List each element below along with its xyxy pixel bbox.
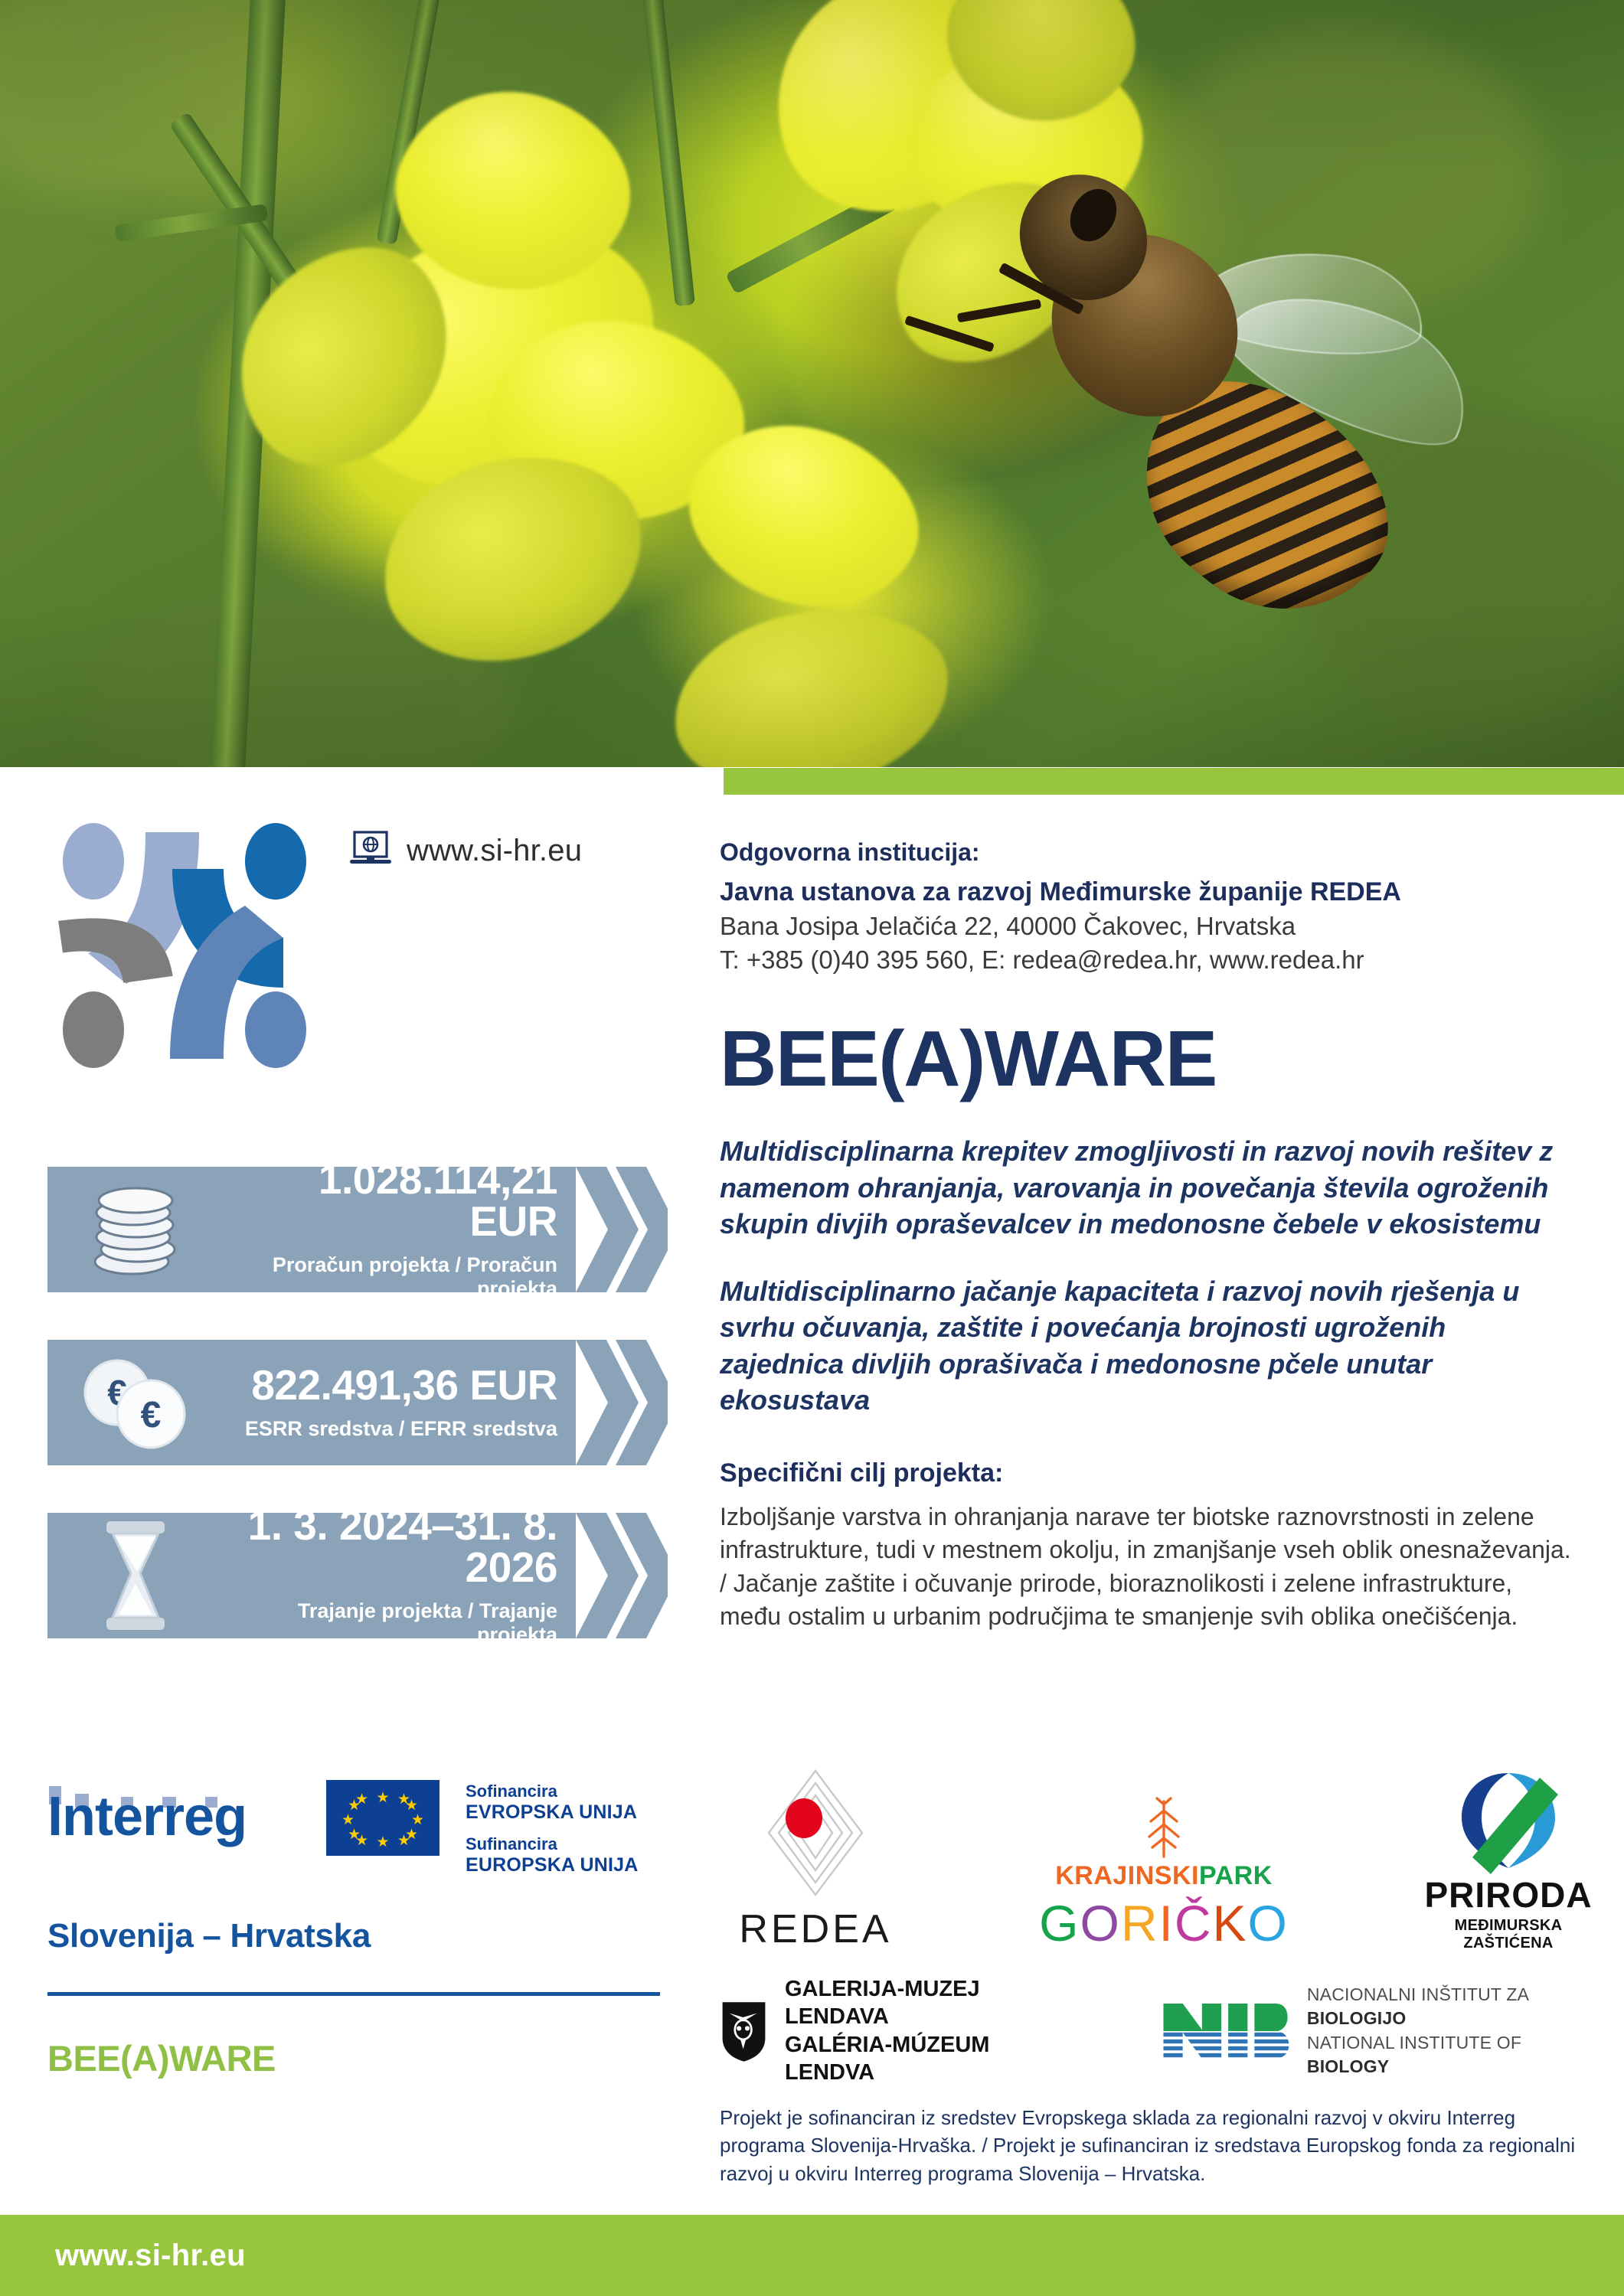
programme-name: Slovenija – Hrvatska: [47, 1917, 660, 1955]
partner-goricko-top: KRAJINSKIPARK: [1037, 1861, 1290, 1891]
divider-rule: [47, 1992, 660, 1996]
partner-nib-line2-bold: BIOLOGY: [1307, 2056, 1389, 2076]
partner-gml-text: GALERIJA-MUZEJ LENDAVA GALÉRIA-MÚZEUM LE…: [785, 1975, 1060, 2086]
specific-goal-label: Specifični cilj projekta:: [720, 1458, 1577, 1488]
specific-goal-text: Izboljšanje varstva in ohranjanja narave…: [720, 1501, 1577, 1634]
eu-flag-icon: ★ ★ ★ ★ ★ ★ ★ ★ ★ ★ ★ ★: [326, 1780, 439, 1856]
partner-priroda-label: PRIRODA: [1417, 1874, 1600, 1916]
partner-row-2: GALERIJA-MUZEJ LENDAVA GALÉRIA-MÚZEUM LE…: [720, 1975, 1600, 2086]
partner-nib: NACIONALNI INŠTITUT ZA BIOLOGIJO NATIONA…: [1159, 1983, 1600, 2078]
interreg-logo-row: Interreg ★ ★ ★ ★ ★ ★ ★ ★ ★ ★ ★ ★ Sofinan…: [47, 1780, 660, 1877]
badge-label: ESRR sredstva / EFRR sredstva: [224, 1417, 557, 1441]
eu-europska-unija-label: EUROPSKA UNIJA: [466, 1854, 639, 1877]
eu-cofunding-texts: Sofinancira EVROPSKA UNIJA Sufinancira E…: [466, 1780, 639, 1877]
partner-nib-line2-plain: NATIONAL INSTITUTE OF: [1307, 2033, 1521, 2053]
partner-gml-line1: GALERIJA-MUZEJ LENDAVA: [785, 1975, 1060, 2031]
project-title-slovene: Multidisciplinarna krepitev zmogljivosti…: [720, 1133, 1577, 1243]
institution-contact: T: +385 (0)40 395 560, E: redea@redea.hr…: [720, 946, 1577, 975]
partner-logos: REDEA KRAJINSKIPARK GORIČKO: [720, 1776, 1600, 2086]
badge-duration: 1. 3. 2024–31. 8. 2026 Trajanje projekta…: [47, 1513, 660, 1638]
badge-value: 822.491,36 EUR: [224, 1364, 557, 1406]
green-accent-bar: [724, 768, 1624, 795]
interreg-branding: Interreg ★ ★ ★ ★ ★ ★ ★ ★ ★ ★ ★ ★ Sofinan…: [47, 1780, 660, 2079]
badge-text: 1. 3. 2024–31. 8. 2026 Trajanje projekta…: [224, 1504, 576, 1647]
badge-text: 822.491,36 EUR ESRR sredstva / EFRR sred…: [224, 1364, 576, 1441]
partner-nib-text: NACIONALNI INŠTITUT ZA BIOLOGIJO NATIONA…: [1307, 1983, 1600, 2078]
hourglass-icon: [47, 1513, 224, 1638]
footer-url[interactable]: www.si-hr.eu: [55, 2239, 246, 2273]
footer-bar: www.si-hr.eu: [0, 2215, 1624, 2296]
interreg-wordmark: Interreg: [47, 1780, 300, 1849]
partner-priroda-sublabel: MEĐIMURSKA ZAŠTIĆENA: [1417, 1917, 1600, 1952]
institution-name: Javna ustanova za razvoj Međimurske župa…: [720, 877, 1577, 907]
badge-chevrons: [576, 1340, 668, 1465]
badge-label: Proračun projekta / Proračun projekta: [224, 1253, 557, 1301]
eu-sofinancira-label: Sofinancira: [466, 1782, 639, 1801]
si-hr-programme-logo: [54, 823, 318, 1068]
partner-redea: REDEA: [720, 1768, 911, 1952]
euro-coins-icon: € €: [47, 1340, 224, 1465]
partner-galerija-muzej-lendava: GALERIJA-MUZEJ LENDAVA GALÉRIA-MÚZEUM LE…: [720, 1975, 1060, 2086]
key-figures-badges: 1.028.114,21 EUR Proračun projekta / Pro…: [47, 1167, 660, 1686]
badge-chevrons: [576, 1513, 668, 1638]
website-line[interactable]: www.si-hr.eu: [348, 831, 582, 871]
partner-goricko: KRAJINSKIPARK GORIČKO: [1037, 1794, 1290, 1952]
institution-label: Odgovorna institucija:: [720, 838, 1577, 867]
partner-redea-label: REDEA: [720, 1906, 911, 1952]
badge-body: € € 822.491,36 EUR ESRR sredstva / EFRR …: [47, 1340, 576, 1465]
institution-address: Bana Josipa Jelačića 22, 40000 Čakovec, …: [720, 912, 1577, 941]
partner-nib-line1-bold: BIOLOGIJO: [1307, 2008, 1407, 2028]
site-url-label: www.si-hr.eu: [407, 834, 582, 868]
page-title: BEE(A)WARE: [720, 1019, 1577, 1098]
eu-evropska-unija-label: EVROPSKA UNIJA: [466, 1801, 639, 1824]
badge-chevrons: [576, 1167, 668, 1292]
badge-body: 1.028.114,21 EUR Proračun projekta / Pro…: [47, 1167, 576, 1292]
svg-text:€: €: [141, 1395, 162, 1435]
coin-stack-icon: [47, 1167, 224, 1292]
funding-disclaimer: Projekt je sofinanciran iz sredstev Evro…: [720, 2104, 1577, 2187]
eu-sufinancira-label: Sufinancira: [466, 1834, 639, 1854]
svg-text:Interreg: Interreg: [47, 1786, 247, 1847]
partner-priroda: PRIRODA MEĐIMURSKA ZAŠTIĆENA: [1417, 1759, 1600, 1952]
badge-budget: 1.028.114,21 EUR Proračun projekta / Pro…: [47, 1167, 660, 1292]
badge-value: 1.028.114,21 EUR: [224, 1158, 557, 1243]
badge-erdf: € € 822.491,36 EUR ESRR sredstva / EFRR …: [47, 1340, 660, 1465]
partner-gml-line2: GALÉRIA-MÚZEUM LENDVA: [785, 2031, 1060, 2087]
badge-label: Trajanje projekta / Trajanje projekta: [224, 1599, 557, 1647]
hero-vignette: [0, 0, 1624, 767]
right-column: Odgovorna institucija: Javna ustanova za…: [720, 838, 1577, 1634]
partner-row-1: REDEA KRAJINSKIPARK GORIČKO: [720, 1776, 1600, 1952]
partner-goricko-bottom: GORIČKO: [1037, 1894, 1290, 1952]
partner-nib-line1-plain: NACIONALNI INŠTITUT ZA: [1307, 1984, 1528, 2004]
project-title-croatian: Multidisciplinarno jačanje kapaciteta i …: [720, 1273, 1577, 1419]
laptop-globe-icon: [348, 831, 393, 871]
project-acronym-green: BEE(A)WARE: [47, 2037, 660, 2079]
badge-text: 1.028.114,21 EUR Proračun projekta / Pro…: [224, 1158, 576, 1301]
badge-body: 1. 3. 2024–31. 8. 2026 Trajanje projekta…: [47, 1513, 576, 1638]
badge-value: 1. 3. 2024–31. 8. 2026: [224, 1504, 557, 1589]
hero-photo: [0, 0, 1624, 767]
